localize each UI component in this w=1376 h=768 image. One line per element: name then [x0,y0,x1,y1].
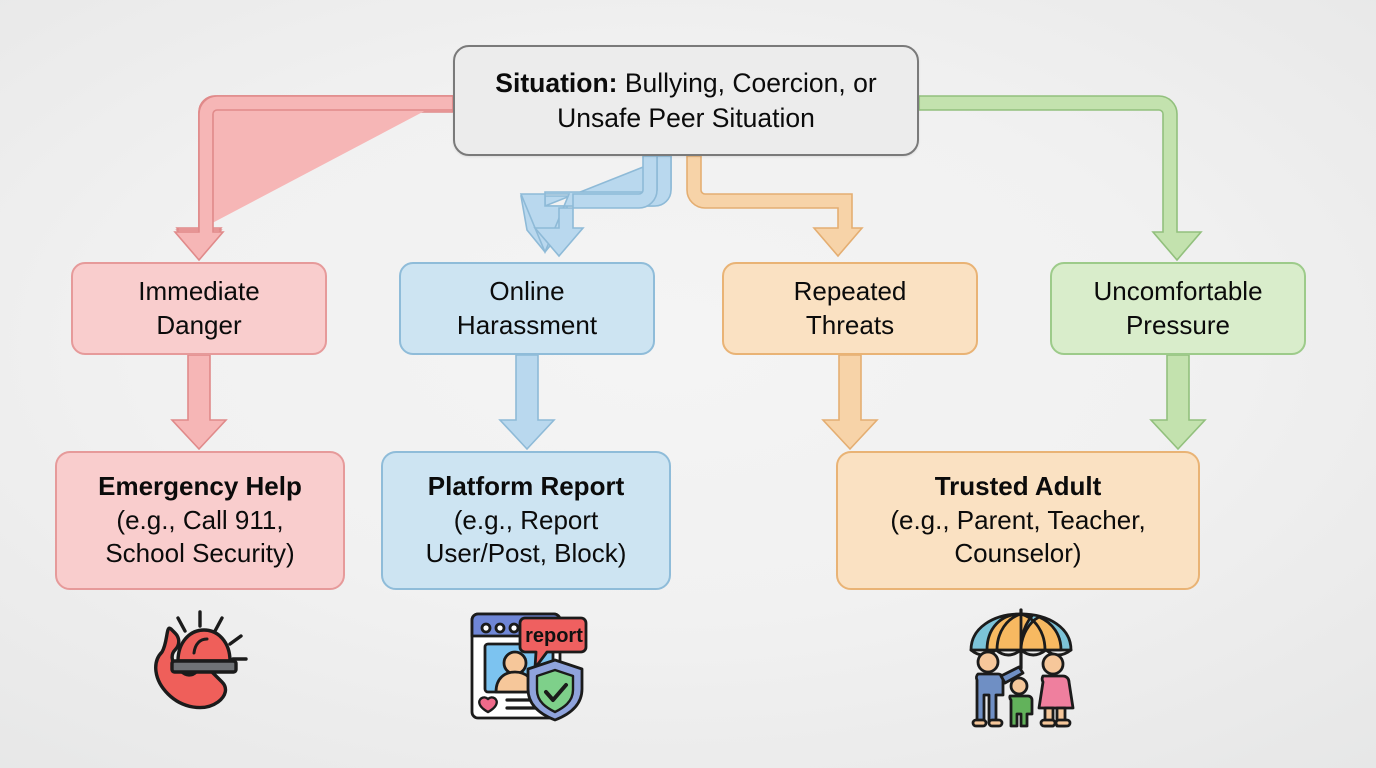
flowchart-canvas: .band { fill-rule: nonzero; stroke-width… [0,0,1376,768]
report-badge-text: report [525,625,583,647]
outcome-detail-2: User/Post, Block) [426,538,627,568]
connector-online-harassment-to-platform-report [500,355,554,449]
node-uncomfortable-pressure[interactable]: Uncomfortable Pressure [1050,262,1306,355]
platform-report-icon: report [463,602,593,728]
connector-root-to-online-harassment [521,156,671,256]
node-situation-label: Situation: Bullying, Coercion, or Unsafe… [455,66,917,135]
node-online-harassment-label: Online Harassment [401,275,653,343]
node-immediate-danger-label: Immediate Danger [73,275,325,343]
node-platform-report[interactable]: Platform Report (e.g., Report User/Post,… [381,451,671,590]
line-2: Harassment [457,310,597,340]
node-situation-label-bold: Situation: [495,68,617,98]
line-2: Threats [806,310,894,340]
outcome-title: Trusted Adult [935,471,1102,501]
node-uncomfortable-pressure-label: Uncomfortable Pressure [1052,275,1304,343]
outcome-title: Emergency Help [98,471,302,501]
line-1: Online [489,276,564,306]
connector-uncomfortable-pressure-to-trusted-adult [1151,355,1205,449]
node-repeated-threats[interactable]: Repeated Threats [722,262,978,355]
node-immediate-danger[interactable]: Immediate Danger [71,262,327,355]
line-1: Repeated [794,276,907,306]
line-1: Immediate [138,276,259,306]
outcome-title: Platform Report [428,471,624,501]
connector-root-to-immediate-danger [175,96,453,260]
node-platform-report-label: Platform Report (e.g., Report User/Post,… [383,470,669,571]
outcome-detail-1: (e.g., Call 911, [116,505,283,535]
line-1: Uncomfortable [1093,276,1262,306]
node-trusted-adult[interactable]: Trusted Adult (e.g., Parent, Teacher, Co… [836,451,1200,590]
emergency-call-icon [142,606,264,724]
connector-immediate-danger-to-emergency-help [172,355,226,449]
node-emergency-help-label: Emergency Help (e.g., Call 911, School S… [57,470,343,571]
connector-root-to-uncomfortable-pressure [919,96,1201,260]
outcome-detail-2: Counselor) [954,538,1081,568]
connector-root-to-repeated-threats [687,156,862,256]
node-online-harassment[interactable]: Online Harassment [399,262,655,355]
outcome-detail-2: School Security) [105,538,294,568]
trusted-adult-icon [957,606,1085,728]
outcome-detail-1: (e.g., Report [454,505,599,535]
outcome-detail-1: (e.g., Parent, Teacher, [890,505,1145,535]
node-situation[interactable]: Situation: Bullying, Coercion, or Unsafe… [453,45,919,156]
node-repeated-threats-label: Repeated Threats [724,275,976,343]
node-emergency-help[interactable]: Emergency Help (e.g., Call 911, School S… [55,451,345,590]
node-trusted-adult-label: Trusted Adult (e.g., Parent, Teacher, Co… [838,470,1198,571]
line-2: Pressure [1126,310,1230,340]
line-2: Danger [156,310,241,340]
connector-repeated-threats-to-trusted-adult [823,355,877,449]
